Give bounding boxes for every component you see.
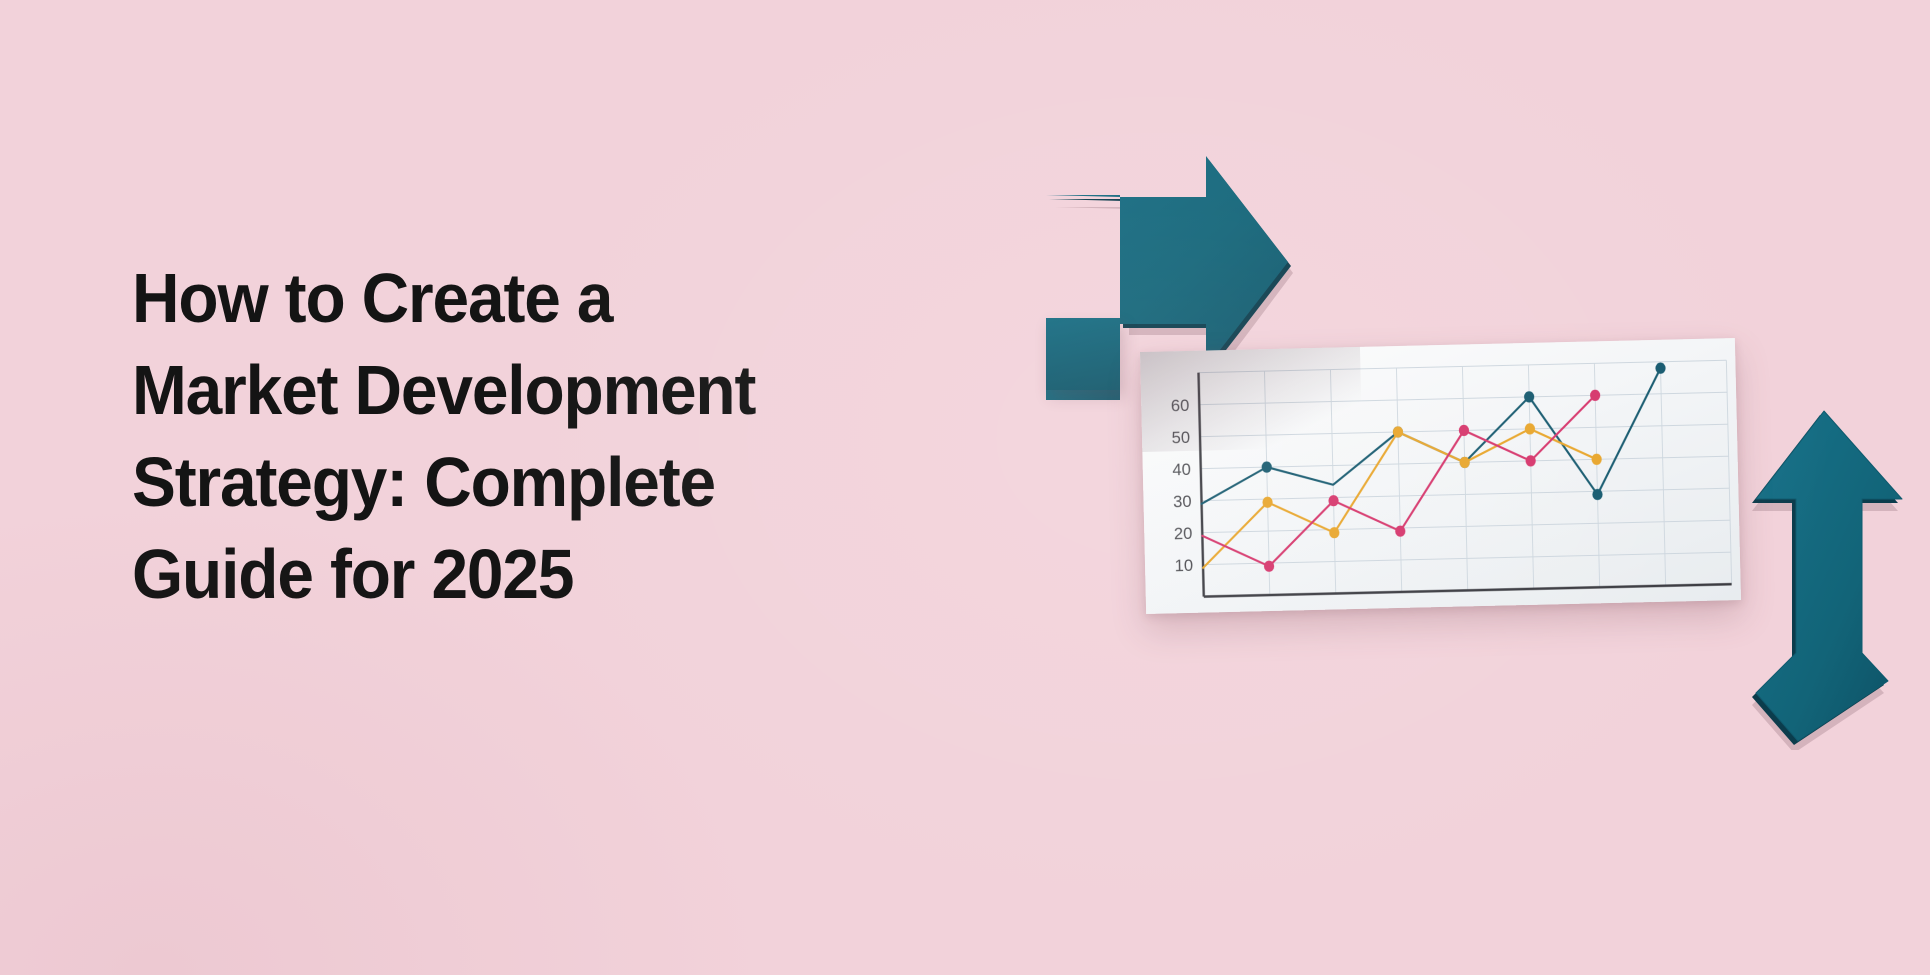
y-axis-tick-label: 40 [1172, 461, 1191, 479]
chart-series-group [1199, 362, 1671, 573]
bent-arrow-pointing-up-icon [1740, 405, 1925, 750]
y-axis-tick-labels: 102030405060 [1171, 397, 1194, 575]
gridline-vertical [1396, 368, 1401, 592]
y-axis-tick-label: 10 [1174, 557, 1193, 575]
gridline-vertical [1330, 370, 1335, 594]
data-point-orange [1591, 454, 1601, 465]
page-title: How to Create a Market Development Strat… [132, 252, 892, 620]
headline-line-3: Strategy: Complete [132, 436, 846, 528]
y-axis [1198, 373, 1203, 597]
headline-line-4: Guide for 2025 [132, 528, 846, 620]
chart-background [1140, 338, 1741, 614]
data-point-teal [1655, 362, 1665, 373]
y-axis-tick-label: 50 [1171, 429, 1190, 447]
data-point-orange [1525, 423, 1535, 434]
line-chart: 102030405060 [1140, 338, 1741, 614]
headline-line-1: How to Create a [132, 252, 846, 344]
headline-line-2: Market Development [132, 344, 846, 436]
data-point-teal [1262, 461, 1272, 472]
hero-banner: How to Create a Market Development Strat… [0, 0, 1930, 975]
chart-gridlines [1198, 360, 1731, 596]
y-axis-tick-label: 60 [1171, 397, 1190, 415]
y-axis-tick-label: 30 [1173, 493, 1192, 511]
gridline-vertical [1726, 360, 1731, 584]
bent-arrow-leg-extension [1046, 318, 1120, 390]
gridline-vertical [1462, 366, 1467, 590]
y-axis-tick-label: 20 [1174, 525, 1193, 543]
chart-paper: 102030405060 [1140, 338, 1741, 614]
gridline-vertical [1660, 362, 1665, 586]
